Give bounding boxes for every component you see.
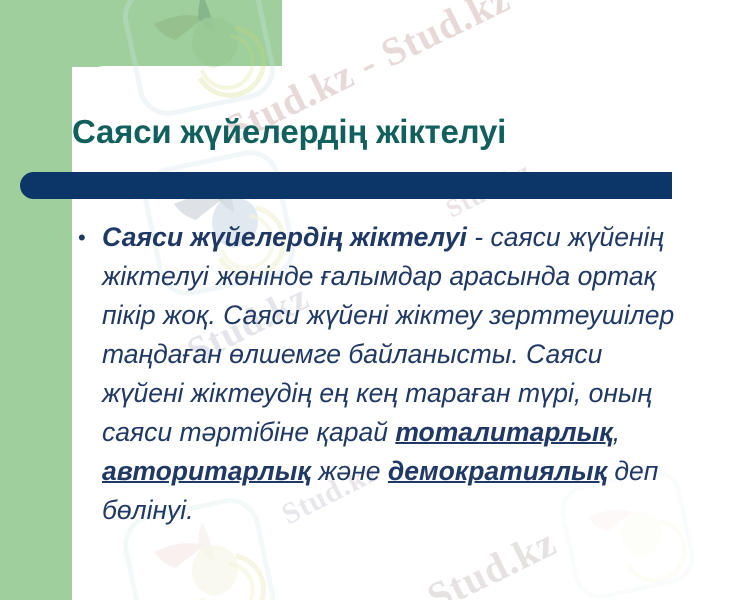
lead-term: Саяси жүйелердің жіктелуі — [102, 222, 467, 252]
slide-title: Саяси жүйелердің жіктелуі — [72, 113, 712, 151]
comma-separator: , — [613, 417, 620, 447]
conjunction: және — [311, 456, 388, 486]
green-top-strip — [0, 0, 282, 67]
term-democratic: демократиялық — [388, 456, 607, 486]
body-text-part-1: саяси жүйенің жіктелуі жөнінде ғалымдар … — [102, 222, 674, 447]
green-left-panel — [0, 0, 72, 600]
slide-canvas: Stud.kz - Stud.kz Stud.kz Stud.kz Stud.k… — [0, 0, 730, 600]
body-bullet-item: • Саяси жүйелердің жіктелуі - саяси жүйе… — [78, 218, 678, 530]
term-authoritarian: авторитарлық — [102, 456, 311, 486]
term-totalitarian: тоталитарлық — [395, 417, 612, 447]
body-paragraph: Саяси жүйелердің жіктелуі - саяси жүйені… — [102, 218, 678, 530]
title-divider-bar — [20, 172, 672, 199]
separator: - — [467, 222, 491, 252]
bullet-marker: • — [78, 218, 102, 257]
